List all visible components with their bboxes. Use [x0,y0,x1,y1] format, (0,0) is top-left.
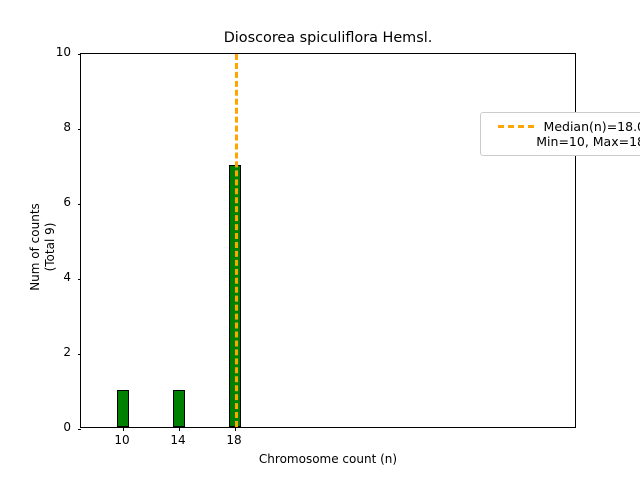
y-tick-label: 6 [0,195,71,209]
y-tick-mark [78,54,82,55]
y-tick-mark [78,279,82,280]
x-tick-label: 18 [214,433,254,447]
y-tick-label: 0 [0,420,71,434]
plot-area: Median(n)=18.0 Min=10, Max=18 [80,53,576,428]
x-tick-label: 10 [102,433,142,447]
bar [117,390,130,428]
chart-legend: Median(n)=18.0 Min=10, Max=18 [480,112,640,156]
y-tick-mark [78,429,82,430]
chart-figure: Dioscorea spiculiflora Hemsl. Median(n)=… [0,0,640,480]
legend-dashed-line-icon [498,125,534,128]
legend-label-median: Median(n)=18.0 [544,119,640,134]
legend-label-minmax: Min=10, Max=18 [536,134,640,149]
chart-title: Dioscorea spiculiflora Hemsl. [80,29,576,47]
y-tick-mark [78,129,82,130]
y-tick-label: 4 [0,270,71,284]
y-tick-mark [78,354,82,355]
x-tick-label: 14 [158,433,198,447]
x-tick-mark [235,427,236,431]
legend-entry-median: Median(n)=18.0 [498,119,640,134]
median-line [235,54,238,427]
y-tick-label: 8 [0,120,71,134]
legend-entry-minmax: Min=10, Max=18 [536,134,640,149]
y-tick-label: 10 [0,45,71,59]
y-tick-mark [78,204,82,205]
x-axis-label: Chromosome count (n) [80,452,576,466]
bar [173,390,186,428]
x-tick-mark [179,427,180,431]
y-tick-label: 2 [0,345,71,359]
x-tick-mark [123,427,124,431]
y-axis-label: Num of counts(Total 9) [28,0,58,480]
